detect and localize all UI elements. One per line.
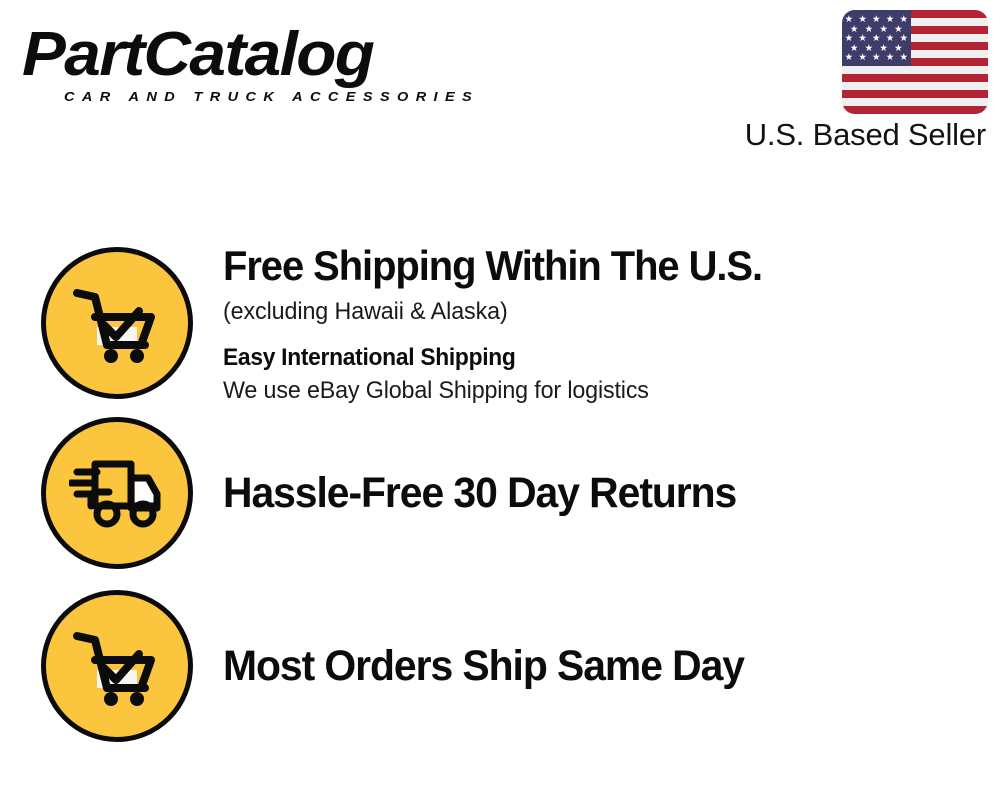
shopping-cart-check-icon <box>41 590 193 742</box>
brand-tagline: CAR AND TRUCK ACCESSORIES <box>64 90 479 105</box>
flag-star: ★ <box>886 53 895 63</box>
flag-stripe <box>842 82 988 90</box>
flag-star-row: ★ ★ ★ ★ ★ <box>842 53 911 63</box>
flag-canton: ★ ★ ★ ★ ★ ★ ★ ★ ★ ★ ★ ★ ★ ★ ★ ★ <box>842 10 911 66</box>
feature-row: Free Shipping Within The U.S. (excluding… <box>0 247 1000 399</box>
brand-logo[interactable]: PartCatalog CAR AND TRUCK ACCESSORIES <box>22 20 492 115</box>
delivery-truck-icon <box>41 417 193 569</box>
flag-star: ★ <box>899 53 908 63</box>
feature-headline: Hassle-Free 30 Day Returns <box>223 469 942 518</box>
feature-headline: Most Orders Ship Same Day <box>223 642 942 691</box>
flag-stripe <box>842 74 988 82</box>
flag-stripe <box>842 98 988 106</box>
feature-subtext: (excluding Hawaii & Alaska) <box>223 297 957 327</box>
flag-star: ★ <box>858 53 867 63</box>
feature-text: Hassle-Free 30 Day Returns <box>223 469 1000 518</box>
page-header: PartCatalog CAR AND TRUCK ACCESSORIES ★ … <box>0 0 1000 175</box>
flag-stripe <box>842 106 988 114</box>
us-flag-icon: ★ ★ ★ ★ ★ ★ ★ ★ ★ ★ ★ ★ ★ ★ ★ ★ <box>842 10 988 114</box>
us-based-seller-label: U.S. Based Seller <box>745 116 986 154</box>
feature-body: We use eBay Global Shipping for logistic… <box>223 376 957 406</box>
feature-text: Free Shipping Within The U.S. (excluding… <box>223 241 1000 406</box>
feature-row: Hassle-Free 30 Day Returns <box>0 417 1000 569</box>
feature-row: Most Orders Ship Same Day <box>0 590 1000 742</box>
flag-star: ★ <box>872 53 881 63</box>
flag-stripe <box>842 66 988 74</box>
flag-star: ★ <box>845 53 854 63</box>
feature-headline: Free Shipping Within The U.S. <box>223 241 942 290</box>
feature-subheading: Easy International Shipping <box>223 343 942 372</box>
flag-stripe <box>842 90 988 98</box>
feature-text: Most Orders Ship Same Day <box>223 642 1000 691</box>
brand-wordmark: PartCatalog <box>22 20 373 90</box>
shopping-cart-check-icon <box>41 247 193 399</box>
